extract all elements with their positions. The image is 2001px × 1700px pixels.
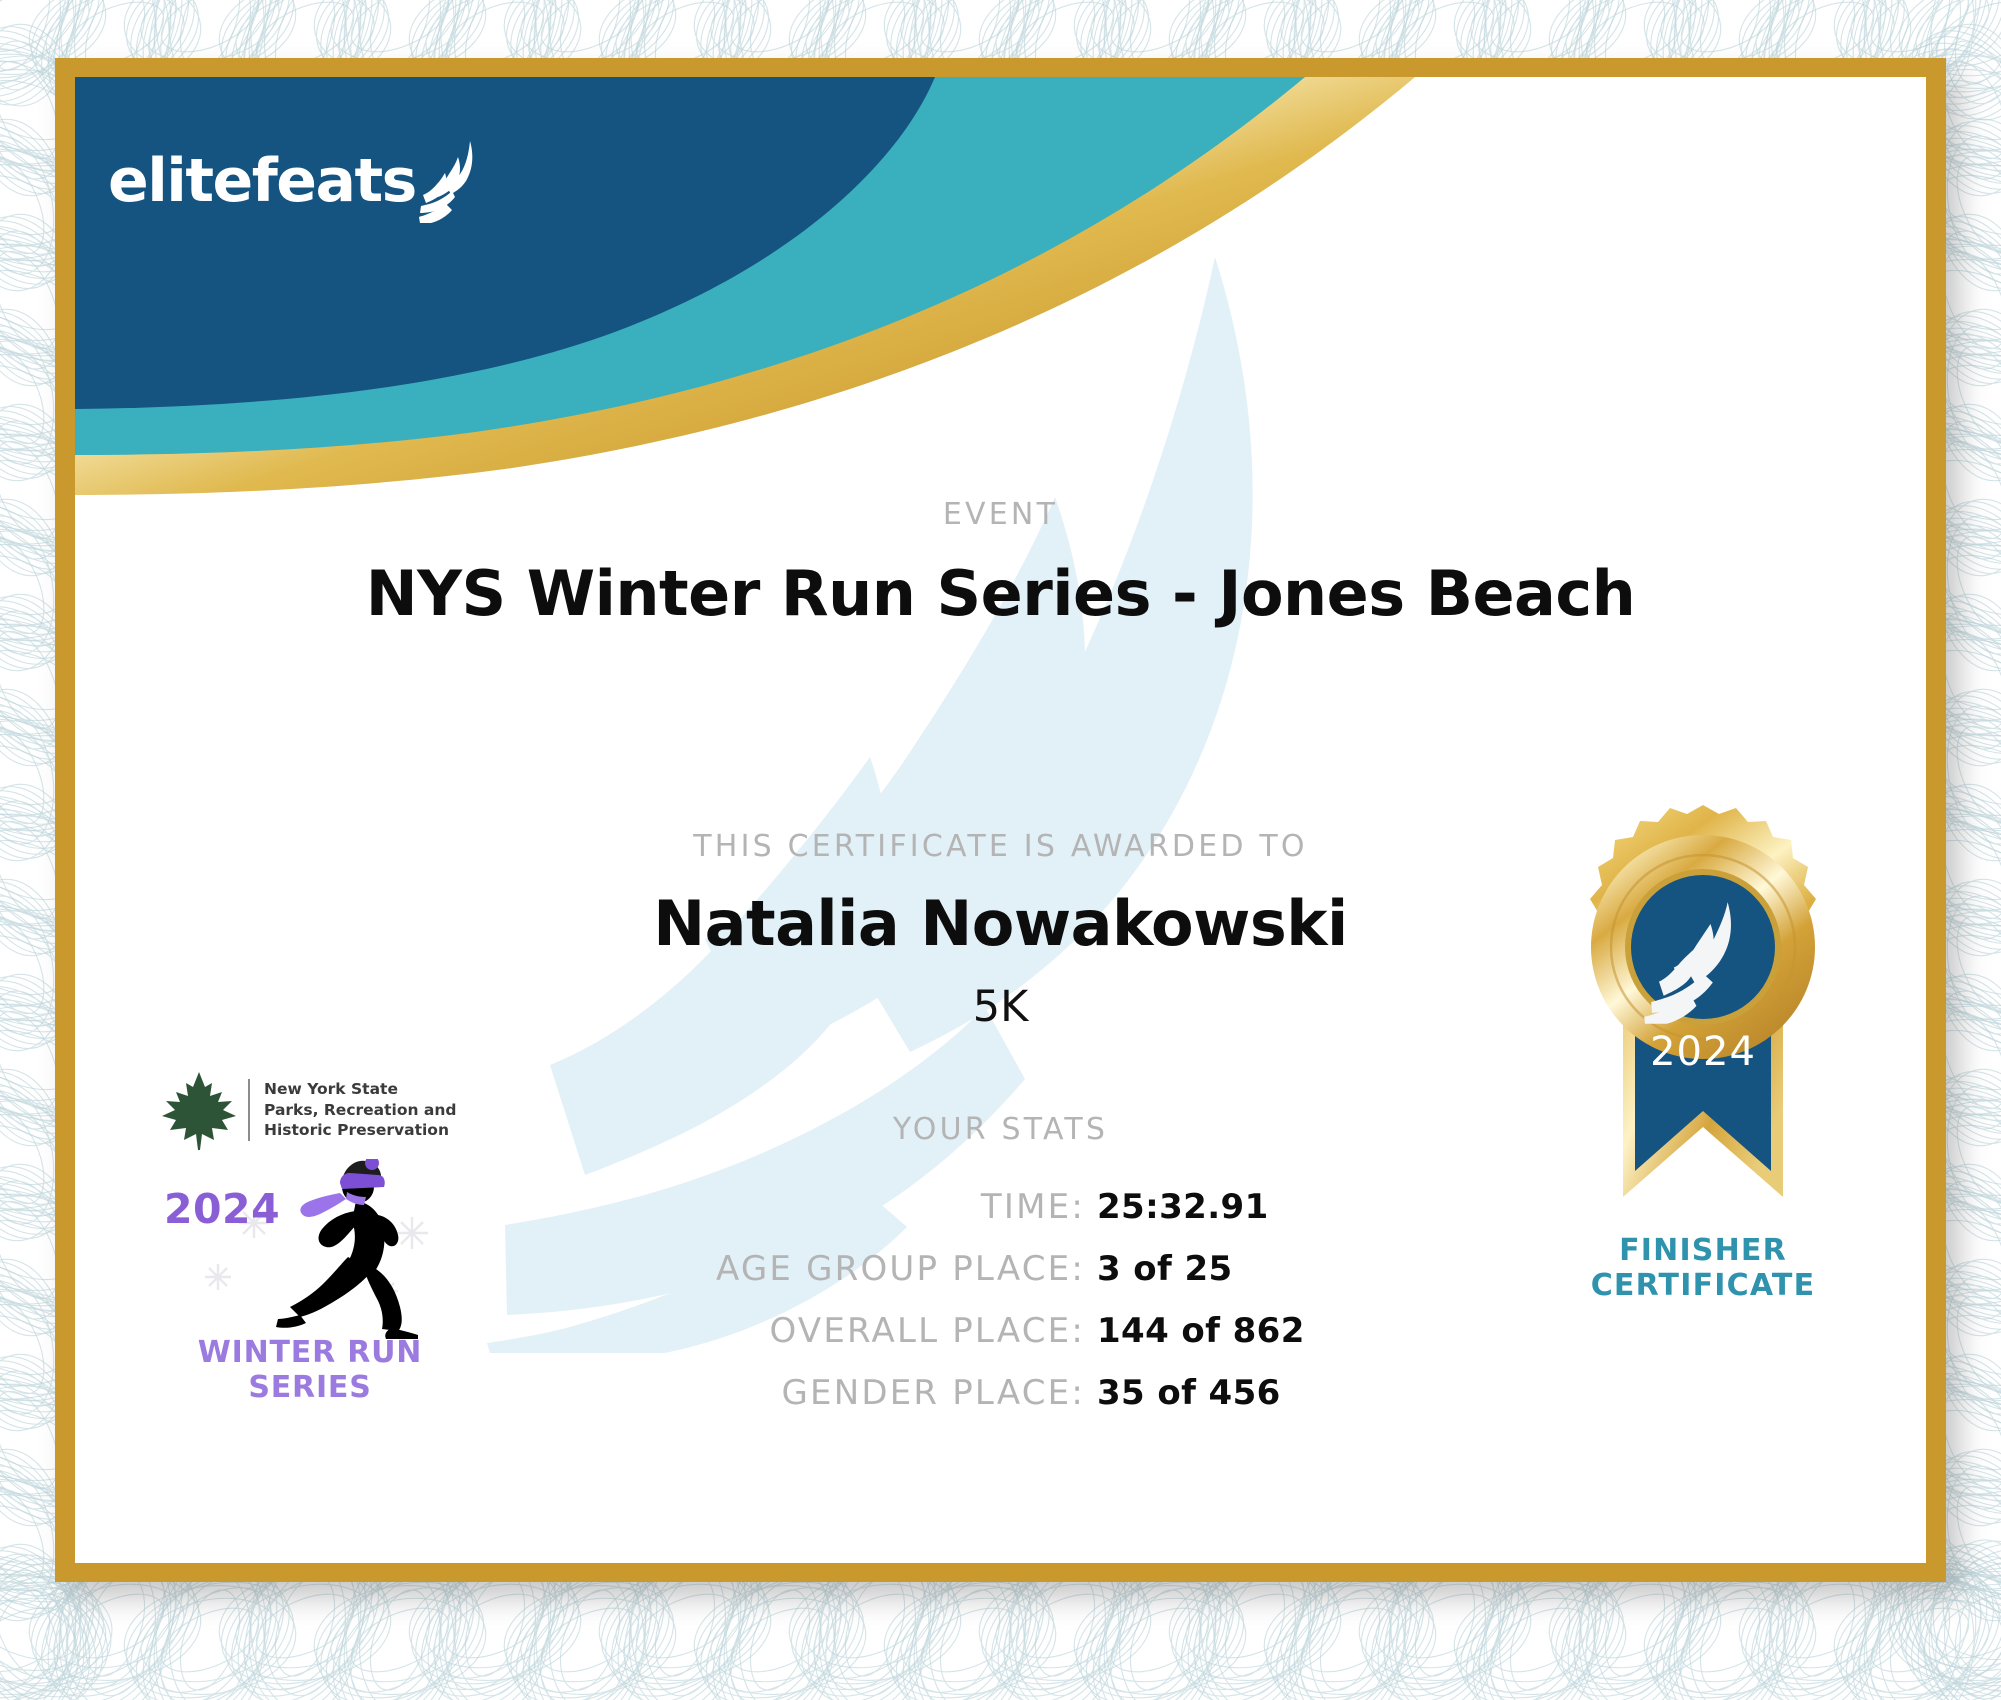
certificate-page: elitefeats EVEN — [75, 77, 1926, 1563]
nys-line-3: Historic Preservation — [264, 1120, 457, 1140]
nys-divider — [248, 1079, 250, 1141]
event-label: EVENT — [75, 497, 1926, 532]
winter-run-series-logo: 2024 WINTER RUN SERIES — [150, 1159, 470, 1389]
wrs-title: WINTER RUN SERIES — [150, 1335, 470, 1405]
winged-foot-icon — [418, 139, 488, 225]
medal-caption-line-2: CERTIFICATE — [1538, 1268, 1868, 1303]
finisher-medal-block: 2024 FINISHER CERTIFICATE — [1538, 797, 1868, 1304]
medal-caption-line-1: FINISHER — [1538, 1233, 1868, 1268]
event-title: NYS Winter Run Series - Jones Beach — [75, 557, 1926, 630]
brand-logo: elitefeats — [108, 137, 488, 225]
maple-leaf-icon — [160, 1070, 238, 1150]
certificate-content: EVENT NYS Winter Run Series - Jones Beac… — [75, 77, 1926, 1563]
nys-parks-logo: New York State Parks, Recreation and His… — [160, 1067, 470, 1153]
nys-line-1: New York State — [264, 1079, 457, 1099]
sponsor-logos: New York State Parks, Recreation and His… — [150, 1067, 470, 1389]
nys-line-2: Parks, Recreation and — [264, 1100, 457, 1120]
brand-name: elitefeats — [108, 151, 416, 211]
nys-parks-text: New York State Parks, Recreation and His… — [264, 1079, 457, 1140]
stat-value-age-group-place: 3 of 25 — [1085, 1249, 1233, 1289]
medal-caption: FINISHER CERTIFICATE — [1538, 1233, 1868, 1304]
medal-year-text: 2024 — [1650, 1029, 1756, 1075]
wrs-year: 2024 — [164, 1185, 280, 1233]
stat-value-overall-place: 144 of 862 — [1085, 1311, 1305, 1351]
certificate-root: elitefeats EVEN — [0, 0, 2001, 1700]
award-medal-winged-foot-icon: 2024 — [1553, 797, 1853, 1227]
stat-value-gender-place: 35 of 456 — [1085, 1373, 1281, 1413]
stat-value-time: 25:32.91 — [1085, 1187, 1269, 1227]
